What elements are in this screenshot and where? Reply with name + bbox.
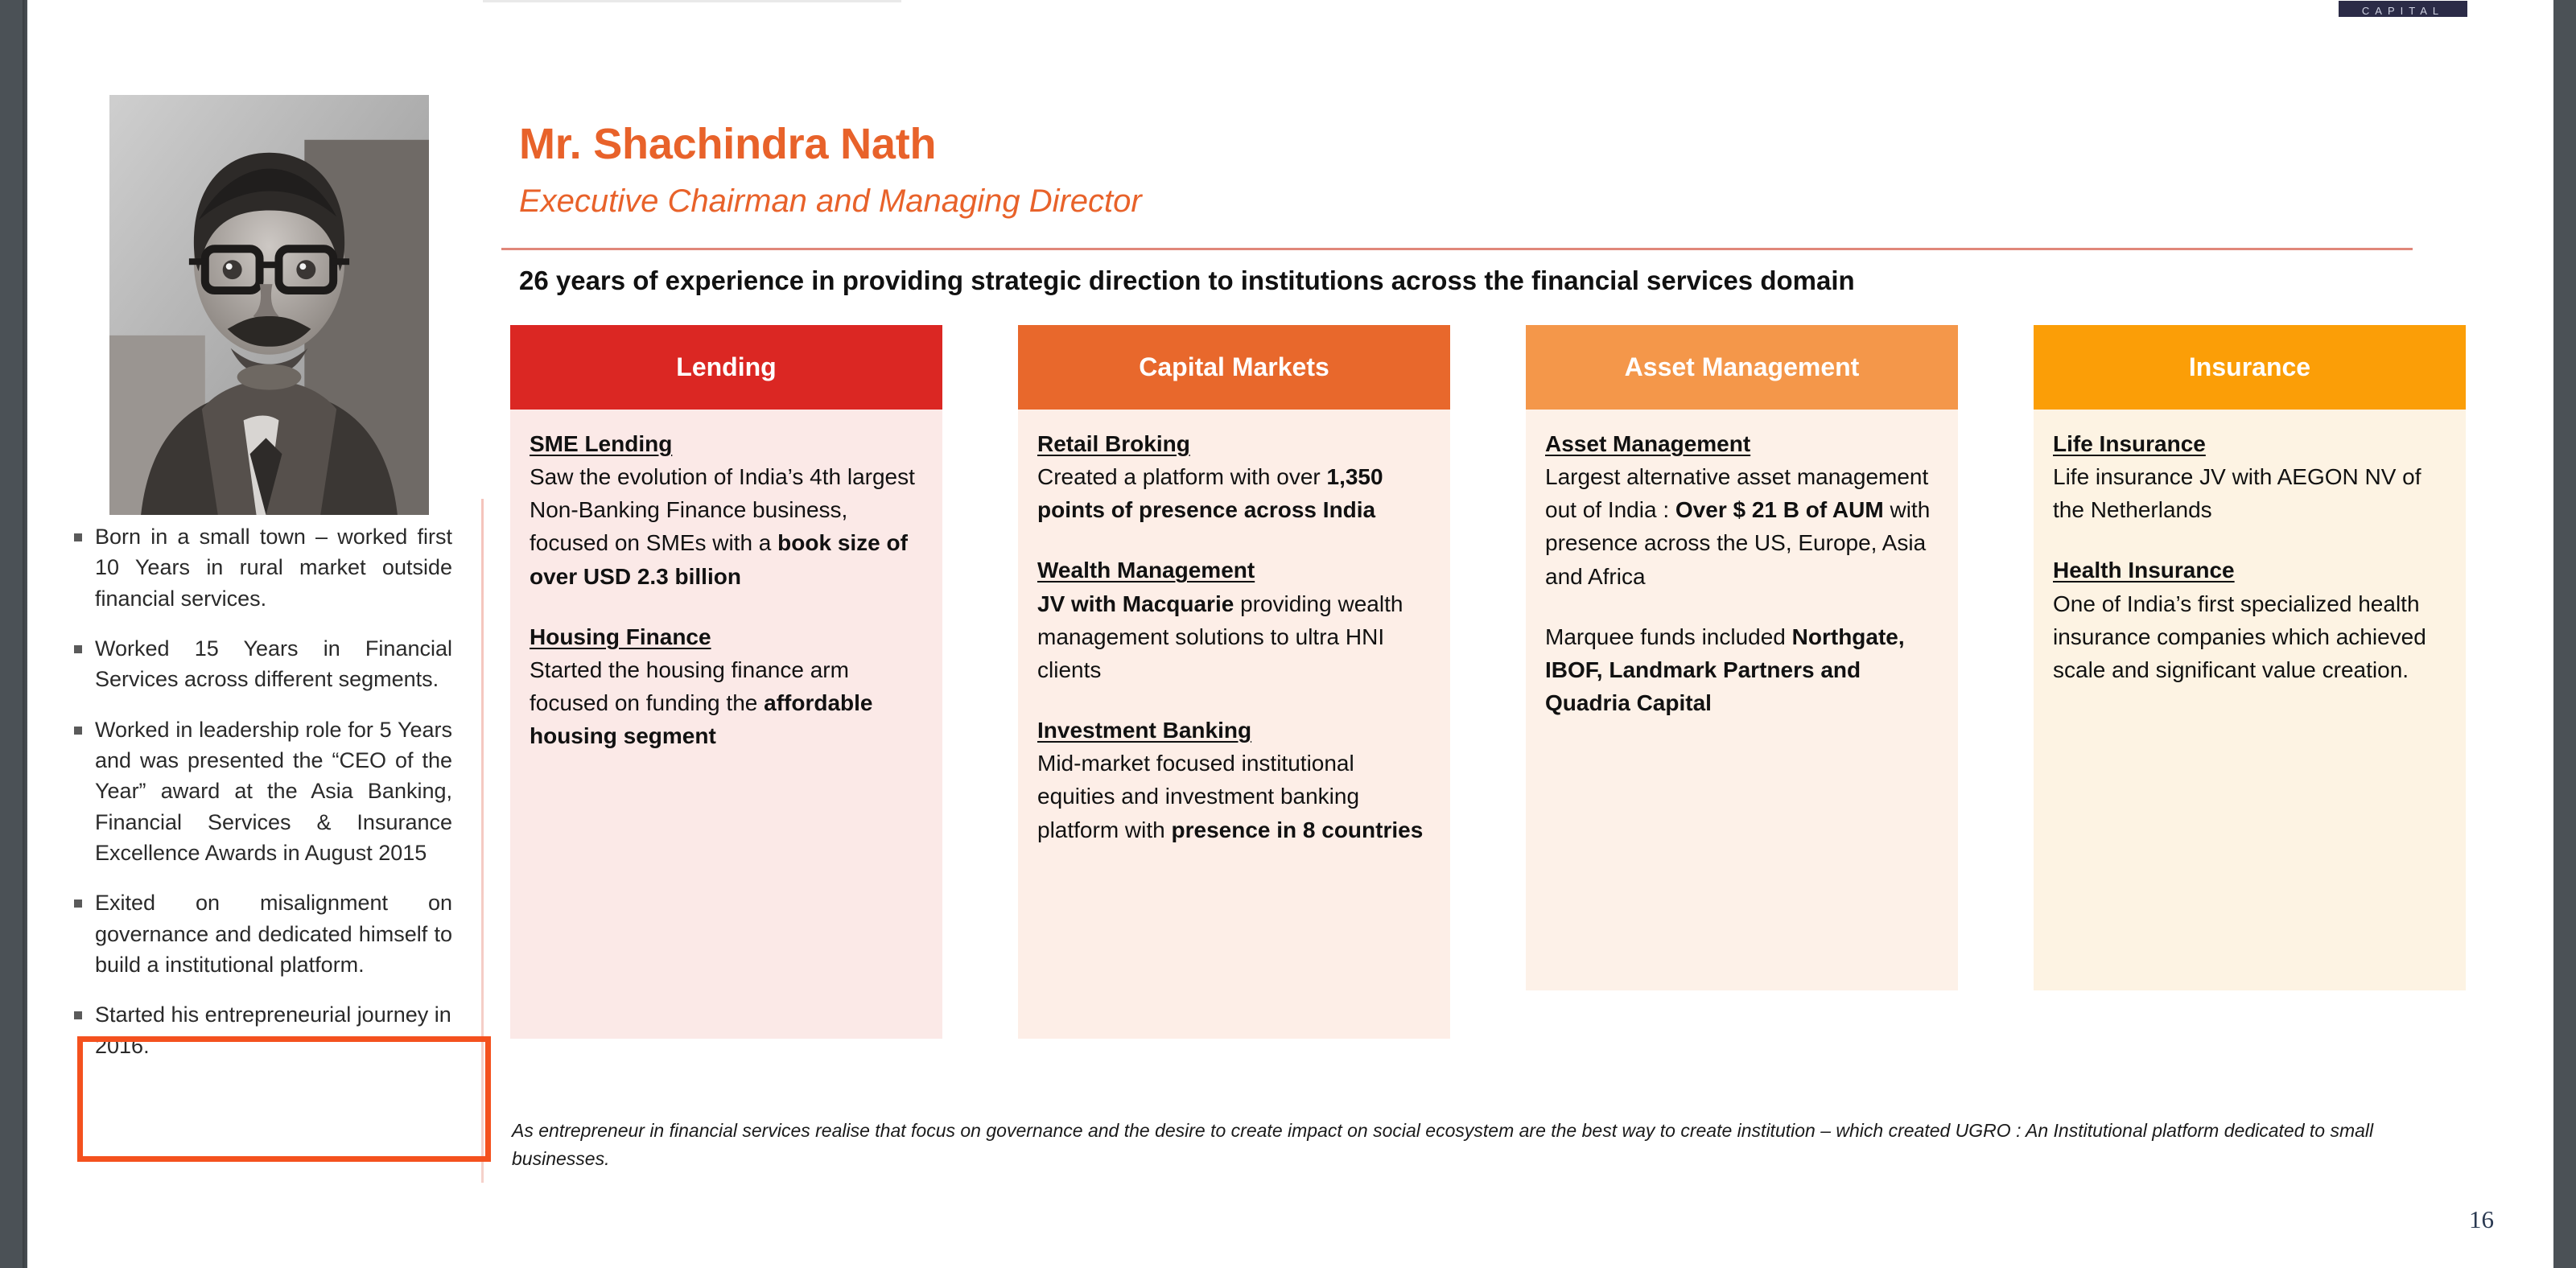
panel-lending: Lending SME Lending Saw the evolution of… (510, 325, 942, 1039)
panel-section: Marquee funds included Northgate, IBOF, … (1545, 620, 1939, 719)
section-heading: Life Insurance (2053, 427, 2446, 460)
section-heading: Wealth Management (1037, 554, 1431, 587)
biography-bullet-list: Born in a small town – worked first 10 Y… (74, 521, 452, 1081)
bullet-square-icon (74, 1011, 82, 1019)
logo-text: CAPITAL (2362, 6, 2444, 16)
capital-logo: CAPITAL (2338, 0, 2468, 18)
list-item-highlighted: Exited on misalignment on governance and… (74, 887, 452, 980)
panel-insurance: Insurance Life Insurance Life insurance … (2034, 325, 2466, 990)
slide-top-seam (483, 0, 901, 2)
section-body: One of India’s first specialized health … (2053, 587, 2446, 686)
panel-section: Retail Broking Created a platform with o… (1037, 427, 1431, 526)
panel-header: Asset Management (1526, 325, 1958, 410)
page-subtitle: Executive Chairman and Managing Director (519, 183, 1142, 220)
bullet-square-icon (74, 727, 82, 735)
panel-section: SME Lending Saw the evolution of India’s… (530, 427, 923, 593)
list-item-text: Born in a small town – worked first 10 Y… (95, 521, 452, 614)
section-body: Marquee funds included Northgate, IBOF, … (1545, 620, 1939, 719)
panel-section: Asset Management Largest alternative ass… (1545, 427, 1939, 593)
list-item: Worked 15 Years in Financial Services ac… (74, 633, 452, 695)
list-item-text: Worked in leadership role for 5 Years an… (95, 714, 452, 869)
page-title: Mr. Shachindra Nath (519, 119, 936, 169)
list-item-text: Started his entrepreneurial journey in 2… (95, 999, 452, 1061)
panel-body: Asset Management Largest alternative ass… (1526, 410, 1958, 990)
list-item-text: Exited on misalignment on governance and… (95, 887, 452, 980)
section-body: Saw the evolution of India’s 4th largest… (530, 460, 923, 593)
section-heading: Health Insurance (2053, 554, 2446, 587)
domain-panels: Lending SME Lending Saw the evolution of… (510, 325, 2434, 1033)
left-column-divider (481, 499, 484, 1183)
panel-section: Investment Banking Mid-market focused in… (1037, 714, 1431, 846)
section-heading: Retail Broking (1037, 427, 1431, 460)
section-heading: Investment Banking (1037, 714, 1431, 747)
bullet-square-icon (74, 900, 82, 908)
panel-asset-management: Asset Management Asset Management Larges… (1526, 325, 1958, 990)
list-item: Born in a small town – worked first 10 Y… (74, 521, 452, 614)
experience-subheading: 26 years of experience in providing stra… (519, 266, 1855, 296)
list-item: Worked in leadership role for 5 Years an… (74, 714, 452, 869)
section-body: JV with Macquarie providing wealth manag… (1037, 587, 1431, 686)
slide-top-edge (27, 0, 2553, 11)
section-heading: Housing Finance (530, 620, 923, 653)
title-divider (501, 248, 2413, 250)
window-gutter-right (2553, 0, 2576, 1268)
section-body: Life insurance JV with AEGON NV of the N… (2053, 460, 2446, 526)
avatar (109, 95, 429, 515)
panel-section: Wealth Management JV with Macquarie prov… (1037, 554, 1431, 686)
panel-capital-markets: Capital Markets Retail Broking Created a… (1018, 325, 1450, 1039)
section-body: Mid-market focused institutional equitie… (1037, 747, 1431, 846)
section-heading: Asset Management (1545, 427, 1939, 460)
panel-header: Capital Markets (1018, 325, 1450, 410)
window-gutter-left (0, 0, 27, 1268)
panel-section: Health Insurance One of India’s first sp… (2053, 554, 2446, 686)
section-body: Created a platform with over 1,350 point… (1037, 460, 1431, 526)
panel-section: Housing Finance Started the housing fina… (530, 620, 923, 753)
footnote: As entrepreneur in financial services re… (512, 1117, 2395, 1172)
section-heading: SME Lending (530, 427, 923, 460)
list-item: Started his entrepreneurial journey in 2… (74, 999, 452, 1061)
bullet-square-icon (74, 533, 82, 541)
panel-section: Life Insurance Life insurance JV with AE… (2053, 427, 2446, 526)
panel-header: Lending (510, 325, 942, 410)
slide-canvas: CAPITAL (0, 0, 2576, 1268)
panel-body: Retail Broking Created a platform with o… (1018, 410, 1450, 1039)
section-body: Started the housing finance arm focused … (530, 653, 923, 752)
panel-header: Insurance (2034, 325, 2466, 410)
panel-body: Life Insurance Life insurance JV with AE… (2034, 410, 2466, 990)
bullet-square-icon (74, 645, 82, 653)
panel-body: SME Lending Saw the evolution of India’s… (510, 410, 942, 1039)
list-item-text: Worked 15 Years in Financial Services ac… (95, 633, 452, 695)
page-number: 16 (2469, 1205, 2494, 1234)
section-body: Largest alternative asset management out… (1545, 460, 1939, 593)
